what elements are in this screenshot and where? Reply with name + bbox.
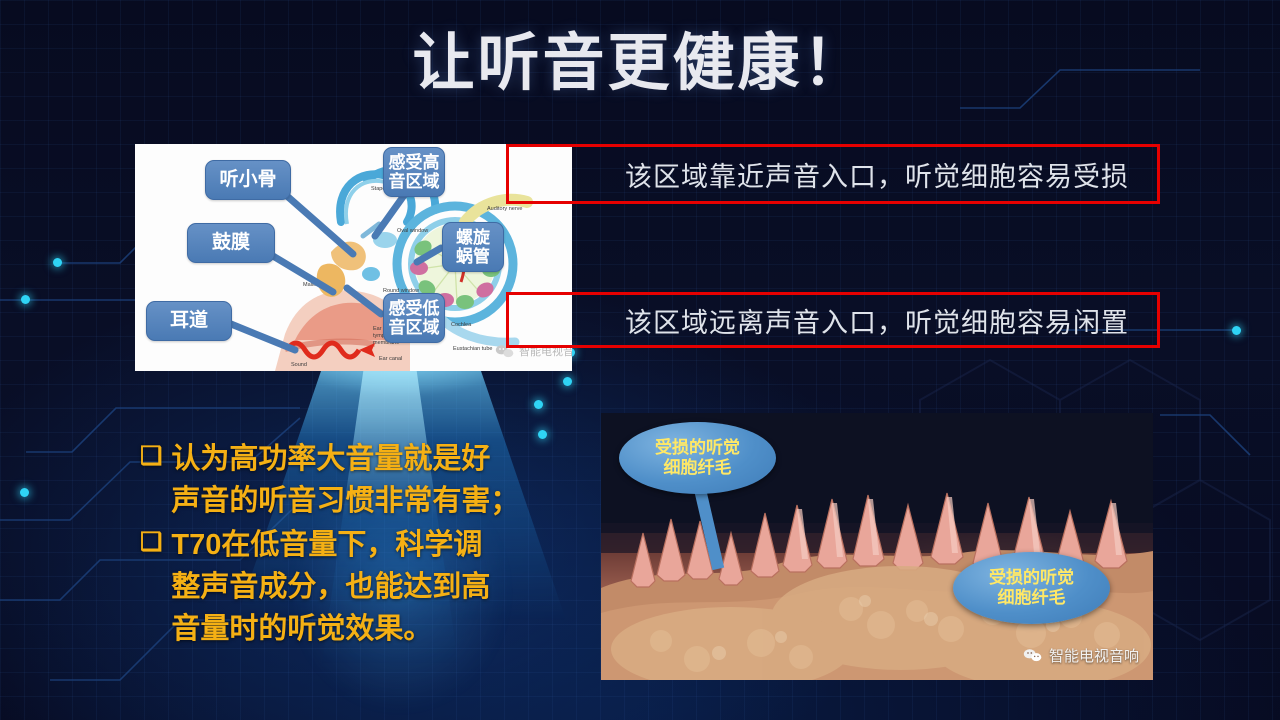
list-item-line2: 声音的听音习惯非常有害； (171, 485, 519, 517)
callout-damaged-cilia-1: 受损的听觉 细胞纤毛 (619, 422, 776, 494)
accent-dot (1232, 326, 1241, 335)
callout-low-tone-line1: 感受低 (389, 299, 440, 318)
list-item-line2: 整声音成分，也能达到高 (171, 571, 490, 603)
callout-low-tone-line2: 音区域 (389, 318, 440, 337)
bullet-square-icon: ❑ (140, 438, 162, 476)
callout-low-tone-zone: 感受低 音区域 (383, 293, 445, 343)
page-title: 让听音更健康！ (0, 12, 1280, 102)
photo-watermark: 智能电视音响 (1023, 645, 1139, 666)
accent-dot (563, 377, 572, 386)
callout-high-tone-line2: 音区域 (389, 172, 440, 191)
list-item-line1: 认为高功率大音量就是好 (171, 443, 490, 475)
annotation-high-tone-text: 该区域靠近声音入口，听觉细胞容易受损 (625, 155, 1129, 194)
annotation-low-tone: 该区域远离声音入口，听觉细胞容易闲置 (506, 292, 1160, 348)
callout-ear-canal: 耳道 (146, 301, 232, 341)
list-item: ❑ T70在低音量下，科学调 整声音成分，也能达到高 音量时的听觉效果。 (140, 524, 570, 650)
accent-dot (21, 295, 30, 304)
callout-high-tone-zone: 感受高 音区域 (383, 147, 445, 197)
hair-cell-micrograph: 受损的听觉 细胞纤毛 受损的听觉 细胞纤毛 智能电视音响 (601, 413, 1153, 680)
callout-cochlear-duct: 螺旋 蜗管 (442, 222, 504, 272)
list-item-text: T70在低音量下，科学调 整声音成分，也能达到高 音量时的听觉效果。 (171, 524, 570, 650)
list-item-text: 认为高功率大音量就是好 声音的听音习惯非常有害； (171, 438, 570, 522)
photo-watermark-text: 智能电视音响 (1049, 645, 1139, 666)
callout-damaged-cilia-2-line1: 受损的听觉 (989, 568, 1074, 588)
callout-cochlear-duct-line2: 蜗管 (456, 247, 490, 266)
callout-eardrum: 鼓膜 (187, 223, 275, 263)
callout-damaged-cilia-1-line2: 细胞纤毛 (655, 458, 740, 478)
callout-cochlear-duct-line1: 螺旋 (456, 228, 490, 247)
callout-damaged-cilia-1-line1: 受损的听觉 (655, 438, 740, 458)
bullet-list: ❑ 认为高功率大音量就是好 声音的听音习惯非常有害； ❑ T70在低音量下，科学… (140, 438, 570, 652)
bullet-square-icon: ❑ (140, 524, 162, 562)
accent-dot (53, 258, 62, 267)
annotation-low-tone-text: 该区域远离声音入口，听觉细胞容易闲置 (625, 301, 1129, 340)
list-item-line3: 音量时的听觉效果。 (171, 613, 432, 645)
callout-high-tone-line1: 感受高 (389, 153, 440, 172)
callout-ossicle: 听小骨 (205, 160, 291, 200)
callout-damaged-cilia-2-line2: 细胞纤毛 (989, 588, 1074, 608)
wechat-icon (1023, 648, 1043, 663)
callout-damaged-cilia-2: 受损的听觉 细胞纤毛 (953, 552, 1110, 624)
list-item-line1: T70在低音量下，科学调 (171, 529, 482, 561)
accent-dot (20, 488, 29, 497)
list-item: ❑ 认为高功率大音量就是好 声音的听音习惯非常有害； (140, 438, 570, 522)
annotation-high-tone: 该区域靠近声音入口，听觉细胞容易受损 (506, 144, 1160, 204)
